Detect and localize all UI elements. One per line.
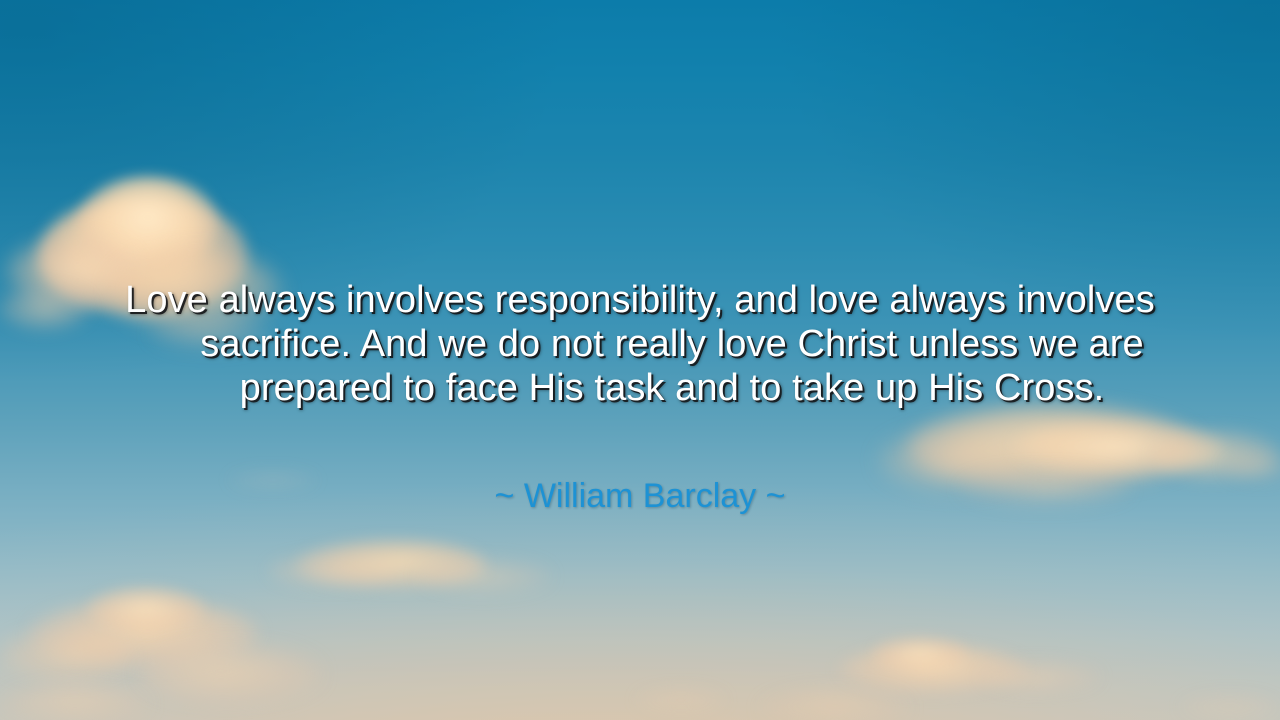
- quote-line-1: Love always involves responsibility, and…: [125, 279, 1155, 321]
- quote-text: Love always involves responsibility, and…: [85, 278, 1195, 454]
- quote-line-3: prepared to face His task and to take up…: [240, 367, 1105, 409]
- quote-image: Love always involves responsibility, and…: [0, 0, 1280, 720]
- quote-line-2: sacrifice. And we do not really love Chr…: [200, 323, 1143, 365]
- quote-block: Love always involves responsibility, and…: [0, 278, 1280, 516]
- quote-author: ~ William Barclay ~: [40, 476, 1240, 516]
